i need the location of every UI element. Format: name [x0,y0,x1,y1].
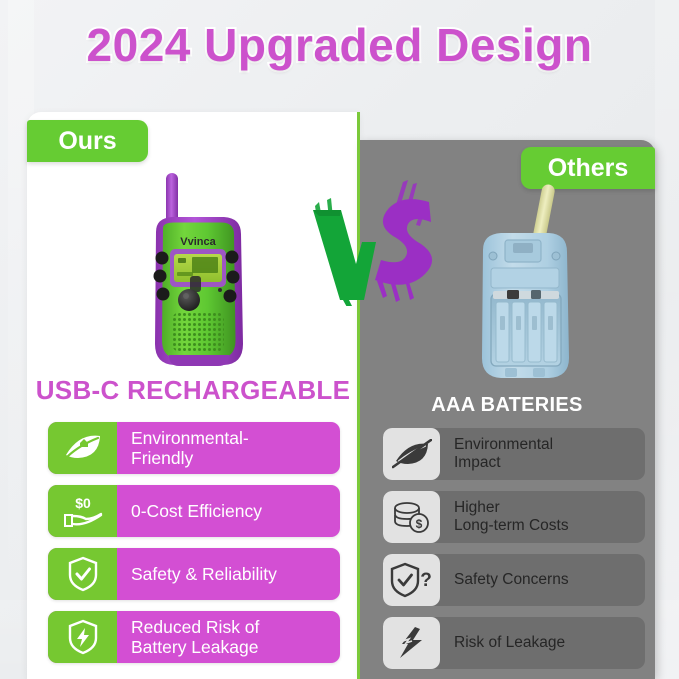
svg-text:$0: $0 [75,495,91,511]
feature-row-zero-cost-efficiency: $0 0-Cost Efficiency [48,485,340,537]
background-texture [655,0,679,679]
heading-others: AAA BATERIES [359,394,655,417]
features-others-list: Environmental Impact $ Higher Long-term … [383,428,645,679]
leaf-crossed-icon [383,428,440,480]
shield-check-icon [48,548,117,600]
shield-question-icon: ? [383,554,440,606]
blue-walkie-talkie-back-image [461,182,589,380]
comparison-infographic: 2024 Upgraded Design Ours Others [0,0,679,679]
badge-others-label: Others [548,154,629,183]
feature-row-environmental-impact: Environmental Impact [383,428,645,480]
coins-dollar-icon: $ [383,491,440,543]
feature-row-higher-longterm-costs: $ Higher Long-term Costs [383,491,645,543]
product-brand-text: Vvinca [180,236,216,248]
heading-ours: USB-C RECHARGEABLE [27,375,359,406]
feature-line-1: Safety & Reliability [131,564,277,584]
hand-money-icon: $0 [48,485,117,537]
feature-line-1: Reduced Risk of [131,617,259,637]
feature-line-2: Long-term Costs [454,517,569,535]
feature-line-1: Higher [454,499,569,517]
page-title: 2024 Upgraded Design [0,18,679,72]
feature-line-1: 0-Cost Efficiency [131,501,262,521]
feature-line-2: Friendly [131,448,249,468]
feature-text: Risk of Leakage [440,617,645,669]
feature-line-2: Impact [454,454,553,472]
feature-text: Environmental Impact [440,428,645,480]
features-ours-list: Environmental- Friendly $0 0-Cost Effici… [48,422,340,674]
feature-line-1: Environmental [454,436,553,454]
badge-ours: Ours [27,120,148,162]
feature-text: Reduced Risk of Battery Leakage [117,611,340,663]
feature-row-safety-concerns: ? Safety Concerns [383,554,645,606]
feature-row-environmental-friendly: Environmental- Friendly [48,422,340,474]
svg-text:?: ? [420,570,432,591]
feature-line-2: Battery Leakage [131,637,259,657]
feature-text: 0-Cost Efficiency [117,485,340,537]
feature-text: Safety Concerns [440,554,645,606]
feature-line-1: Safety Concerns [454,571,569,589]
feature-line-1: Risk of Leakage [454,634,565,652]
versus-graphic [305,176,455,306]
feature-row-risk-of-leakage: Risk of Leakage [383,617,645,669]
green-walkie-talkie-image: Vvinca [132,172,260,370]
feature-text: Safety & Reliability [117,548,340,600]
svg-text:$: $ [415,517,422,531]
feature-text: Higher Long-term Costs [440,491,645,543]
feature-text: Environmental- Friendly [117,422,340,474]
feature-line-1: Environmental- [131,428,249,448]
shield-bolt-icon [48,611,117,663]
lightning-bolt-icon [383,617,440,669]
leaf-icon [48,422,117,474]
badge-ours-label: Ours [58,127,116,156]
feature-row-safety-reliability: Safety & Reliability [48,548,340,600]
feature-row-reduced-risk-battery-leakage: Reduced Risk of Battery Leakage [48,611,340,663]
